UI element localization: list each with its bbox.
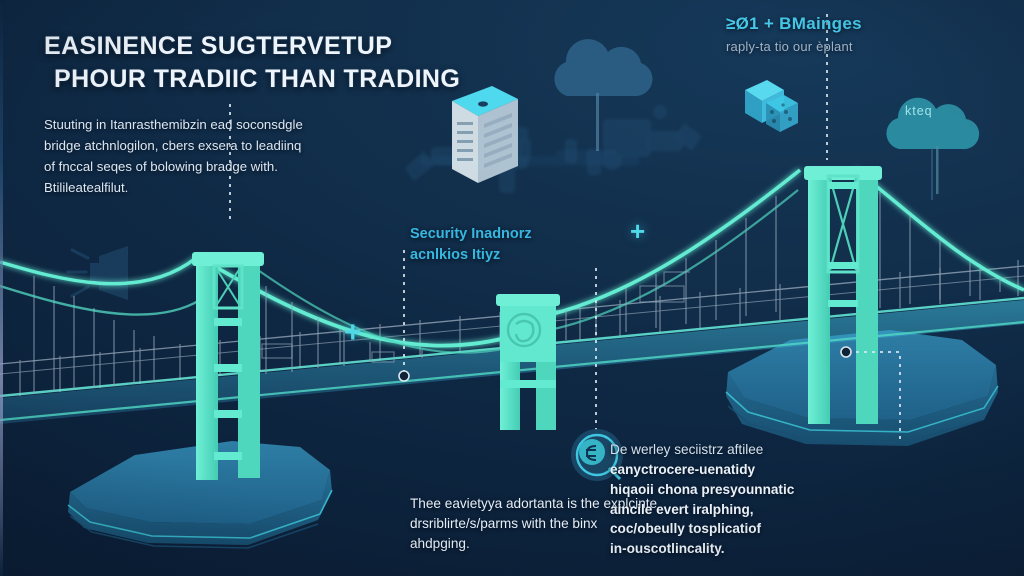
lead-paragraph: Stuuting in Itanrasthemibzin ead soconsd… [44,115,312,198]
page-title: EASINENCE SUGTERVETUP PHOUR TRADIIC THAN… [44,30,544,96]
mid-callout-line-2: acnlkios Itiyz [410,245,640,266]
infographic-canvas: EASINENCE SUGTERVETUP PHOUR TRADIIC THAN… [0,0,1024,576]
bottom-right-line-6: in-ouscotlincality. [610,539,910,559]
mid-callout: Security Inadnorz acnlkios Itiyz [410,224,640,265]
plus-marker-left: + [344,318,362,348]
mid-callout-line-1: Security Inadnorz [410,224,640,245]
cloud-label-text: kteq [905,104,933,118]
bottom-right-line-1: De werley seciistrz aftilee [610,440,910,460]
bottom-right-line-3: hiqaoii chona presyounnatic [610,480,910,500]
bottom-right-line-5: coc/obeully tosplicatiof [610,519,910,539]
title-line-2: PHOUR TRADIIC THAN TRADING [44,63,544,96]
bottom-right-line-4: aincile evert iralphing, [610,500,910,520]
top-right-heading: ≥Ø1 + BMainges [726,14,996,34]
plus-marker-right: + [630,218,645,244]
top-right-subtext: raply-ta tio our èplant [726,39,996,54]
bottom-right-line-2: eanyctrocere-uenatidy [610,460,910,480]
title-line-1: EASINENCE SUGTERVETUP [44,32,392,60]
top-right-callout: ≥Ø1 + BMainges raply-ta tio our èplant [726,14,996,54]
left-edge-accent [0,0,3,576]
bottom-right-paragraph: De werley seciistrz aftilee eanyctrocere… [610,440,910,559]
